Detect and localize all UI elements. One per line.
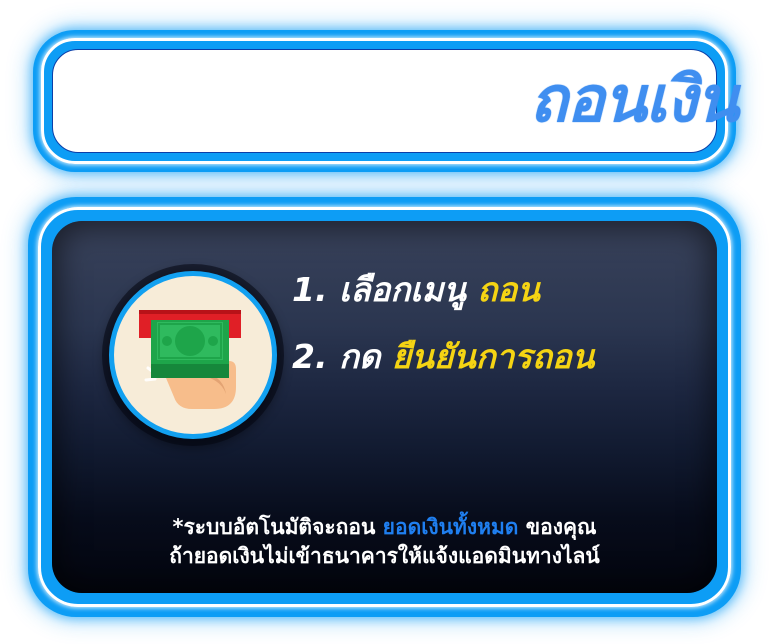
step-2: 2. กด ยืนยันการถอน — [292, 340, 712, 373]
step-1-text: เลือกเมนู — [339, 270, 466, 309]
atm-cash-withdraw-icon — [109, 271, 277, 439]
page-title: ถอนเงิน — [530, 68, 738, 131]
step-1: 1. เลือกเมนู ถอน — [292, 273, 712, 306]
note-line-2: ถ้ายอดเงินไม่เข้าธนาคารให้แจ้งแอดมินทางไ… — [52, 542, 717, 571]
main-panel: 1. เลือกเมนู ถอน 2. กด ยืนยันการถอน *ระบ… — [28, 197, 741, 617]
note-line-1-suffix: ของคุณ — [526, 515, 597, 539]
step-2-highlight: ยืนยันการถอน — [392, 337, 594, 376]
step-2-text: กด — [339, 337, 380, 376]
header-inner-card: ถอนเงิน — [52, 49, 717, 153]
step-1-number: 1. — [292, 270, 328, 309]
footer-note: *ระบบอัตโนมัติจะถอน ยอดเงินทั้งหมด ของคุ… — [52, 513, 717, 571]
main-inner-card: 1. เลือกเมนู ถอน 2. กด ยืนยันการถอน *ระบ… — [52, 221, 717, 593]
step-2-number: 2. — [292, 337, 328, 376]
note-line-1-prefix: *ระบบอัตโนมัติจะถอน — [173, 515, 376, 539]
banknote-shape — [151, 316, 229, 378]
note-line-1-highlight: ยอดเงินทั้งหมด — [383, 515, 519, 539]
note-line-1: *ระบบอัตโนมัติจะถอน ยอดเงินทั้งหมด ของคุ… — [52, 513, 717, 542]
header-panel: ถอนเงิน — [33, 30, 736, 172]
steps-list: 1. เลือกเมนู ถอน 2. กด ยืนยันการถอน — [292, 273, 712, 373]
step-1-highlight: ถอน — [477, 270, 539, 309]
